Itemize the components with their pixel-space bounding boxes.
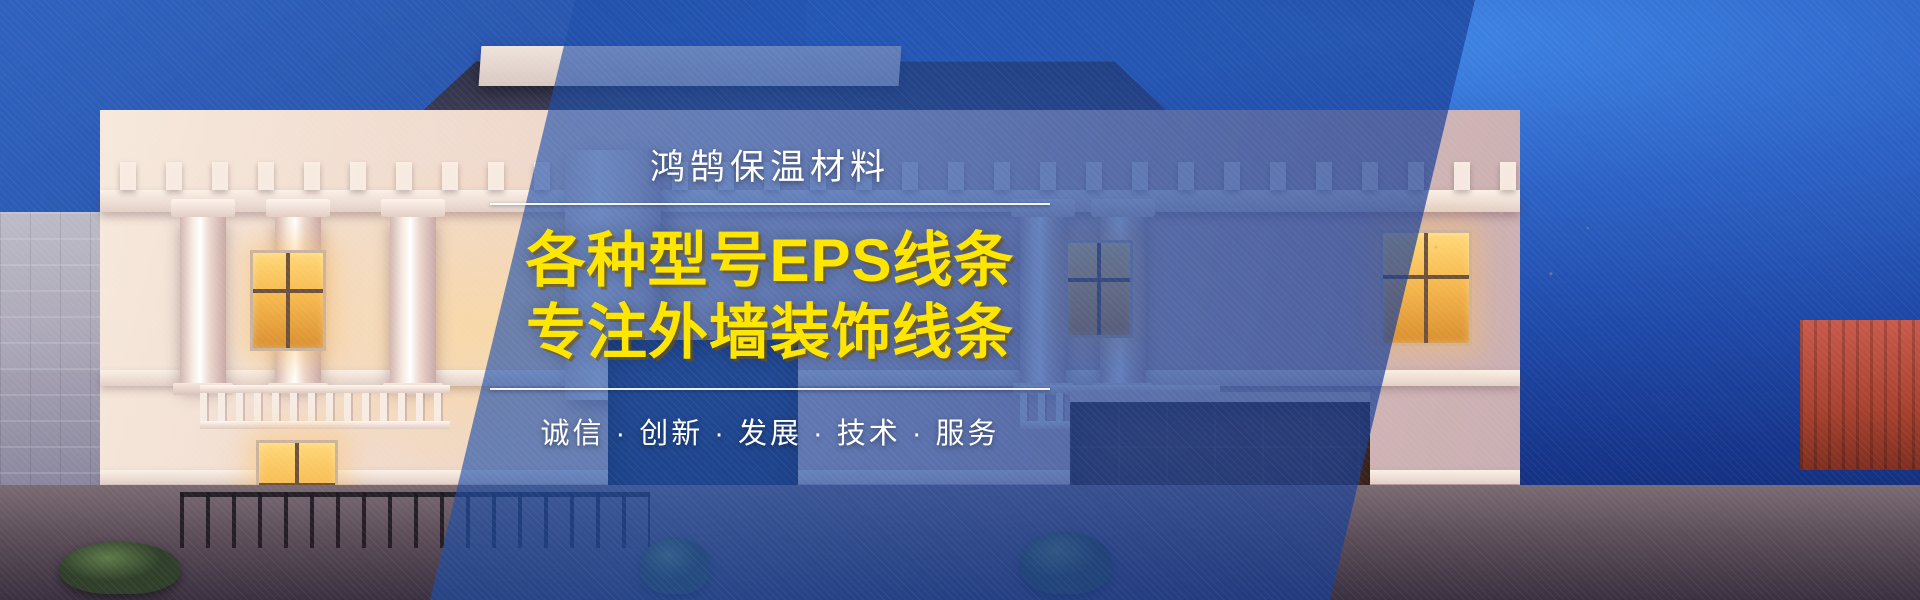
promo-banner: 鸿鹄保温材料 各种型号EPS线条 专注外墙装饰线条 诚信 · 创新 · 发展 ·… <box>0 0 1920 600</box>
company-name: 鸿鹄保温材料 <box>490 148 1050 188</box>
banner-content: 鸿鹄保温材料 各种型号EPS线条 专注外墙装饰线条 诚信 · 创新 · 发展 ·… <box>0 0 1920 600</box>
headline-line-2: 专注外墙装饰线条 <box>490 299 1050 367</box>
divider-bottom <box>490 388 1050 390</box>
tagline: 诚信 · 创新 · 发展 · 技术 · 服务 <box>490 410 1050 452</box>
text-block: 鸿鹄保温材料 各种型号EPS线条 专注外墙装饰线条 诚信 · 创新 · 发展 ·… <box>490 148 1050 451</box>
divider-top <box>490 203 1050 205</box>
headline-line-1: 各种型号EPS线条 <box>490 227 1050 295</box>
